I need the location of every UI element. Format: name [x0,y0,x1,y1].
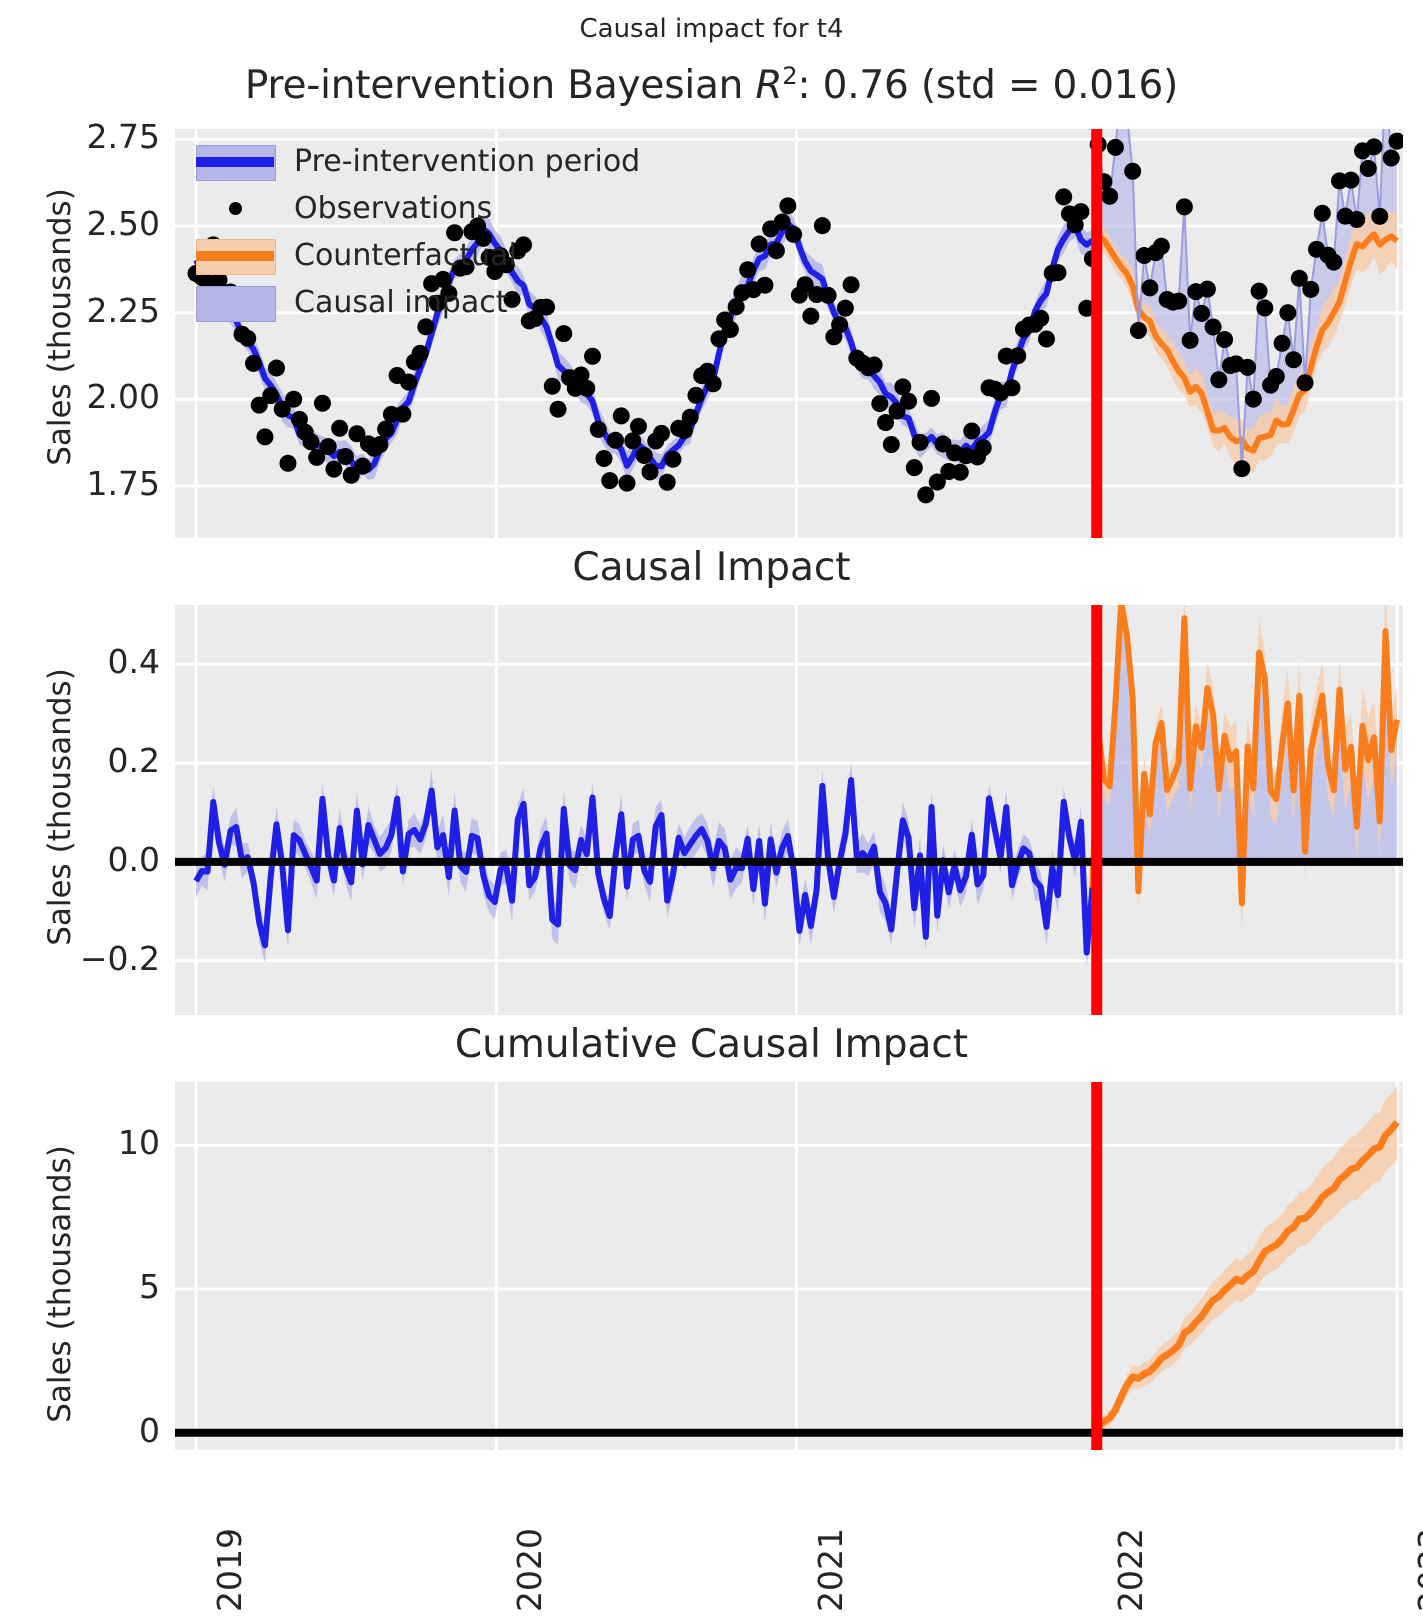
x-axis-tick: 2022 [1111,1528,1150,1612]
panel2-title: Causal Impact [0,545,1423,590]
legend-swatch-causal-impact [196,286,274,320]
panel-causal-impact[interactable] [175,605,1403,1015]
panel3-title: Cumulative Causal Impact [0,1022,1423,1067]
legend: Pre-intervention period Observations Cou… [196,138,666,326]
legend-swatch-counterfactual [196,239,274,273]
panel3-ytick: 5 [0,1267,160,1306]
panel-cumulative-causal-impact[interactable] [175,1082,1403,1450]
title-superscript: 2 [782,62,797,90]
legend-swatch-observations [196,202,274,215]
panel3-ytick: 10 [0,1123,160,1162]
panel1-ytick: 2.25 [0,291,160,330]
panel2-ytick: 0.2 [0,741,160,780]
title-r-symbol: R [755,63,782,108]
legend-item-causal-impact[interactable]: Causal impact [196,279,666,326]
panel1-ytick: 1.75 [0,464,160,503]
legend-swatch-pre-intervention [196,145,274,179]
legend-item-counterfactual[interactable]: Counterfactual [196,232,666,279]
figure-suptitle: Causal impact for t4 [0,14,1423,44]
panel3-ytick: 0 [0,1411,160,1450]
panel2-ytick: 0.0 [0,840,160,879]
x-axis-tick: 2023 [1411,1528,1423,1612]
legend-label-counterfactual: Counterfactual [294,238,517,273]
x-axis-tick: 2020 [510,1528,549,1612]
panel2-ytick: −0.2 [0,939,160,978]
legend-label-causal-impact: Causal impact [294,285,507,320]
legend-label-pre-intervention: Pre-intervention period [294,144,640,179]
legend-item-pre-intervention[interactable]: Pre-intervention period [196,138,666,185]
panel1-ytick: 2.75 [0,117,160,156]
x-axis-tick: 2019 [210,1528,249,1612]
figure-title: Pre-intervention Bayesian R2: 0.76 (std … [0,62,1423,108]
title-suffix: : 0.76 (std = 0.016) [797,63,1178,108]
x-axis-tick: 2021 [811,1528,850,1612]
panel1-ytick: 2.00 [0,377,160,416]
legend-label-observations: Observations [294,191,492,226]
panel1-ytick: 2.50 [0,204,160,243]
title-prefix: Pre-intervention Bayesian [245,63,756,108]
legend-item-observations[interactable]: Observations [196,185,666,232]
panel2-ytick: 0.4 [0,642,160,681]
